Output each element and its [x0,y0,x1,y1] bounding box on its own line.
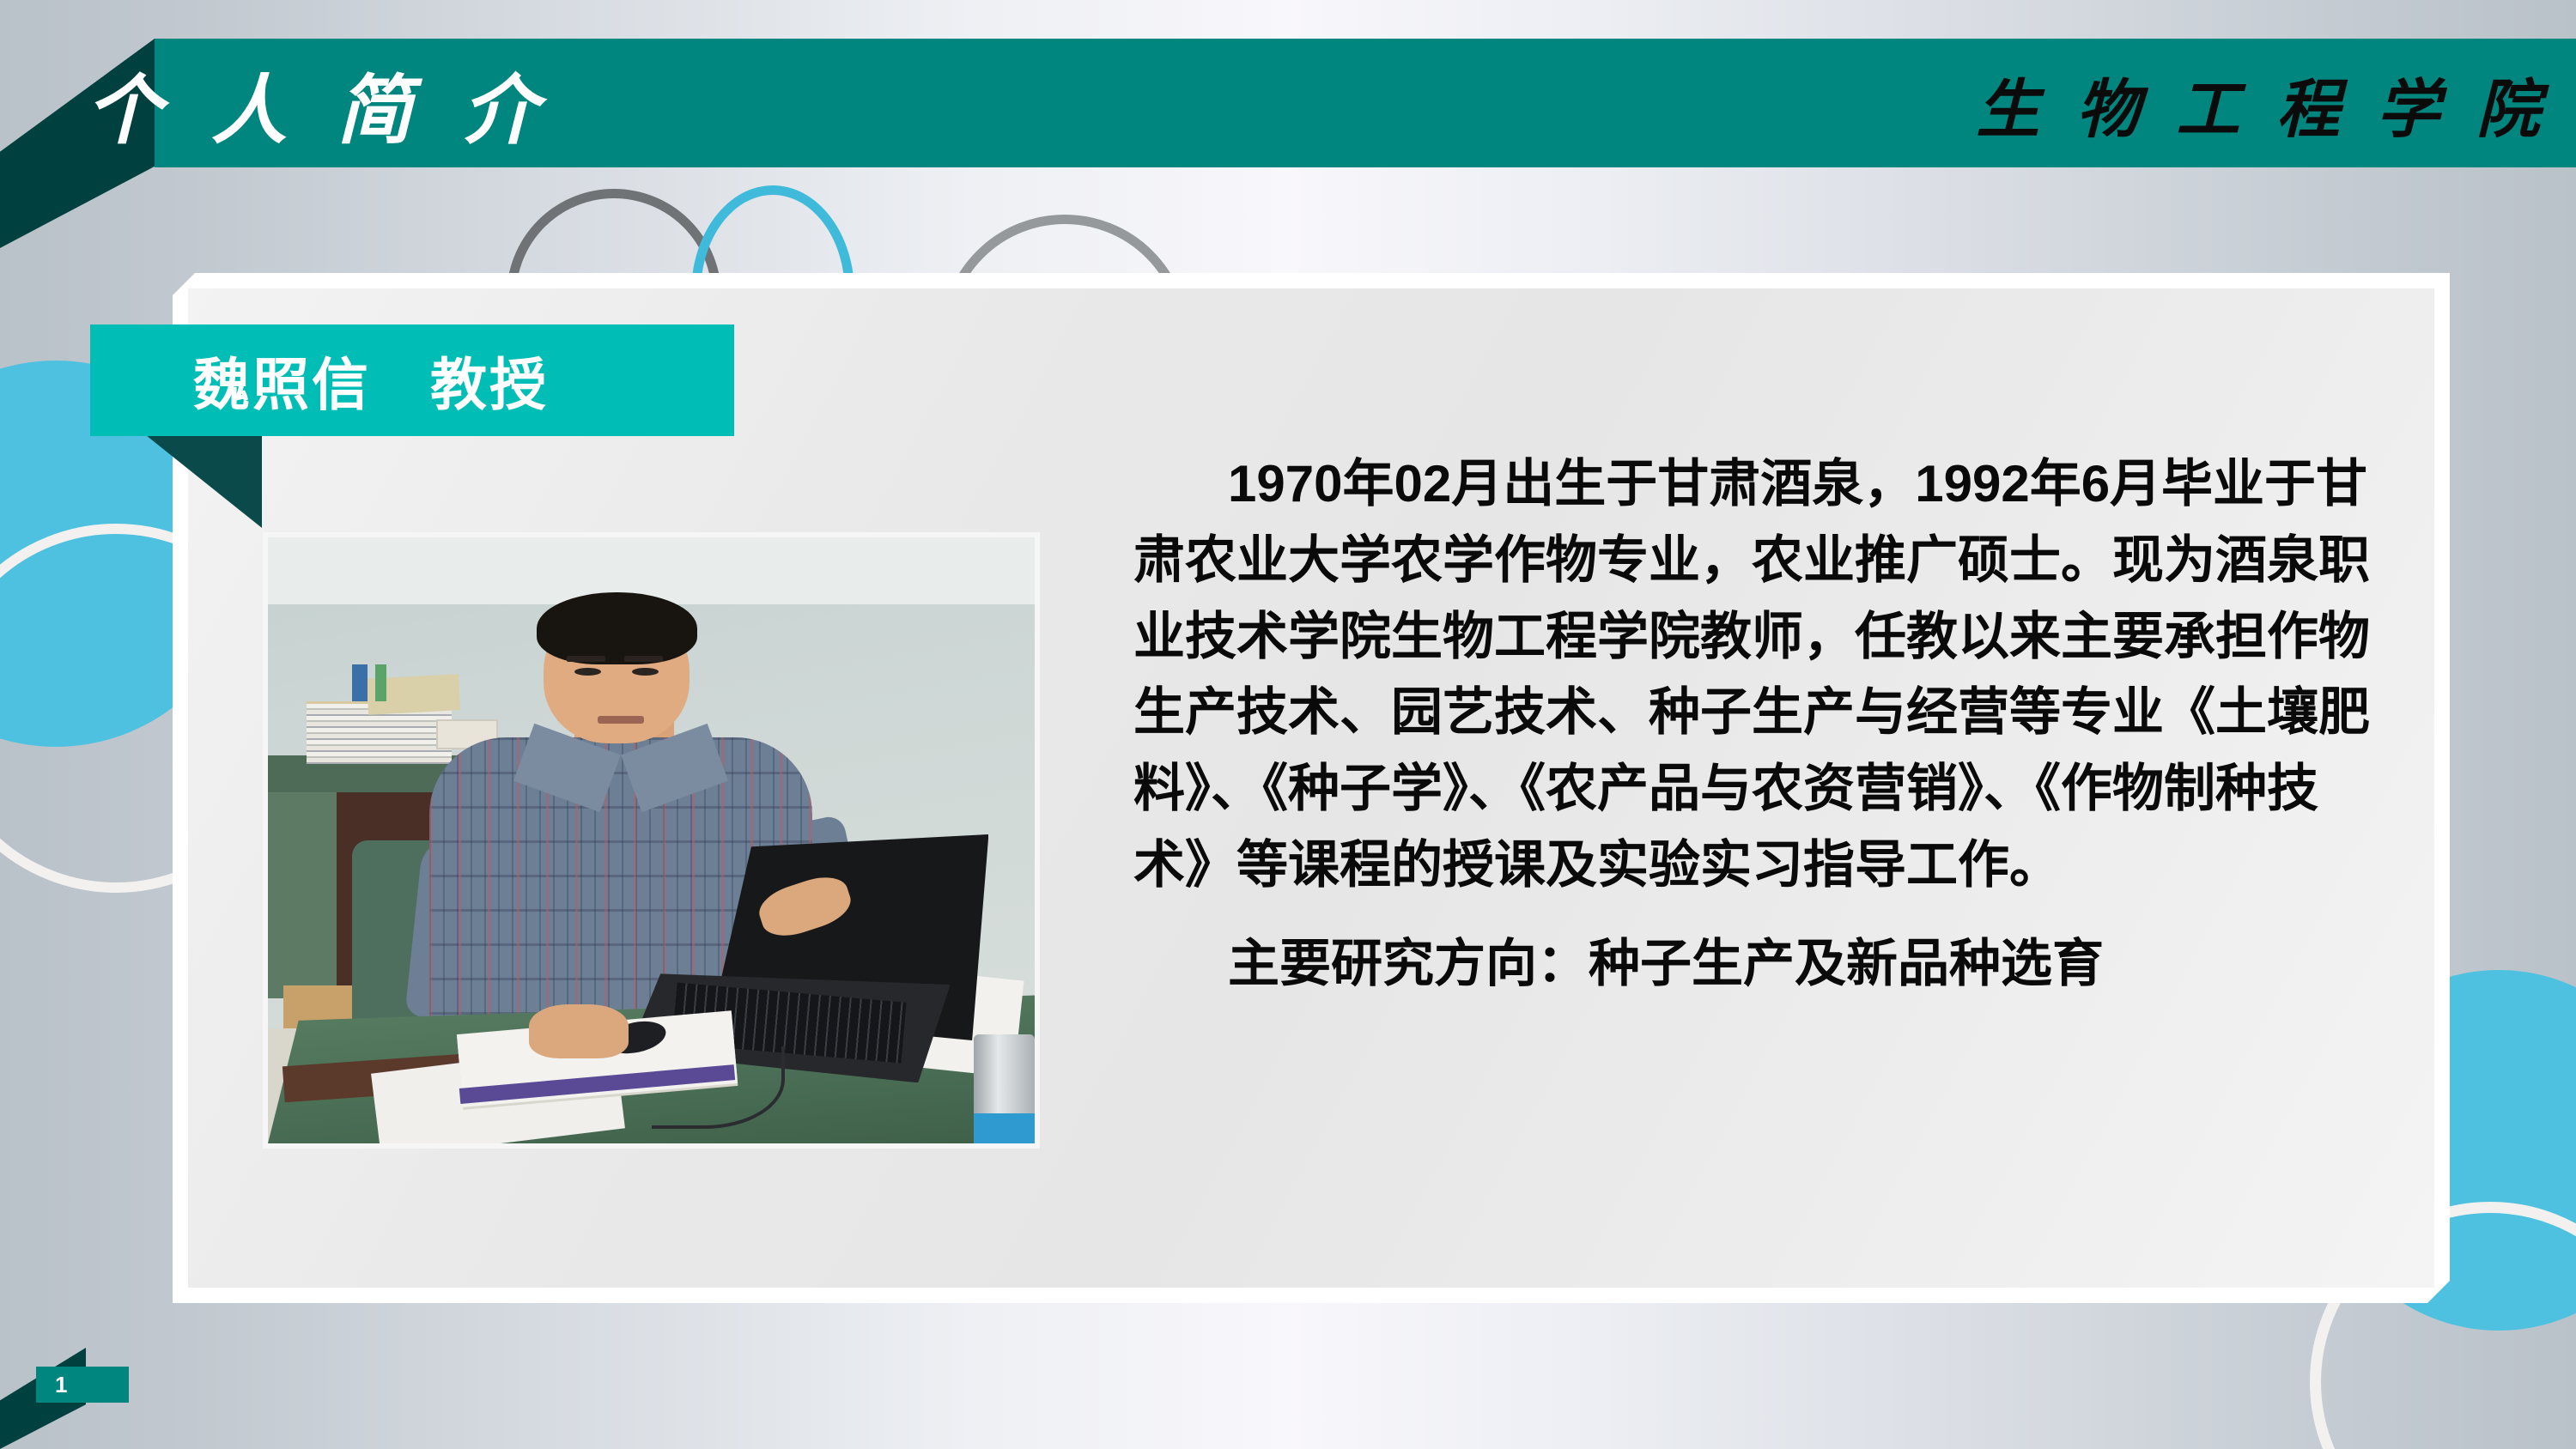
department-name: 生 物 工 程 学 院 [1977,41,2551,167]
page-number-badge: 1 [36,1367,129,1403]
biography-text-block: 1970年02月出生于甘肃酒泉，1992年6月毕业于甘肃农业大学农学作物专业，农… [1133,446,2379,1003]
person-name-label: 魏照信 教授 [193,339,549,421]
research-direction-paragraph: 主要研究方向：种子生产及新品种选育 [1133,926,2379,1003]
photo-person-hair [537,592,698,665]
photo-person-eye-right [632,668,658,676]
slide-canvas: 个 人 简 介 生 物 工 程 学 院 魏照信 教授 [0,0,2576,1449]
photo-cabinet-side [268,792,337,998]
page-title: 个 人 简 介 [86,41,553,167]
name-ribbon: 魏照信 教授 [90,324,734,436]
photo-thermos-band [974,1113,1035,1143]
photo-pen-green [375,664,386,700]
photo-person-eye-left [574,668,600,676]
photo-person-eyebrow-right [624,656,663,663]
portrait-photo [268,537,1035,1143]
photo-person-hand-left [529,1004,629,1059]
photo-person-mouth [598,716,644,723]
photo-pen-blue [352,664,368,700]
biography-paragraph: 1970年02月出生于甘肃酒泉，1992年6月毕业于甘肃农业大学农学作物专业，农… [1133,446,2379,904]
portrait-photo-frame [263,532,1040,1149]
photo-person-eyebrow-left [567,656,605,663]
